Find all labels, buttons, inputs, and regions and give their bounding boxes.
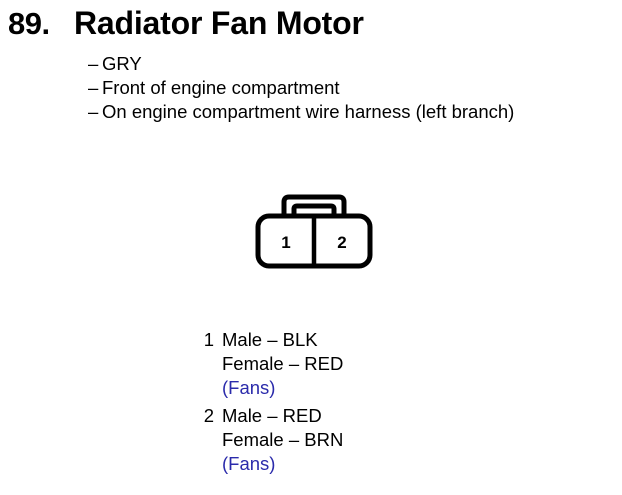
pin-number: 1 — [190, 328, 214, 352]
cavity-label-1: 1 — [281, 233, 290, 252]
description-line: – On engine compartment wire harness (le… — [88, 100, 618, 124]
pin-row: Female – RED — [190, 352, 490, 376]
pin-circuit-note: (Fans) — [222, 452, 275, 476]
connector-diagram: 1 2 — [248, 192, 380, 272]
pin-entry: 2 Male – RED Female – BRN (Fans) — [190, 404, 490, 476]
page-title: Radiator Fan Motor — [74, 4, 364, 42]
pin-row: (Fans) — [190, 376, 490, 400]
description-text: GRY — [102, 52, 142, 76]
pin-entry: 1 Male – BLK Female – RED (Fans) — [190, 328, 490, 400]
description-text: On engine compartment wire harness (left… — [102, 100, 514, 124]
entry-number: 89. — [8, 6, 50, 42]
pin-list: 1 Male – BLK Female – RED (Fans) 2 Male … — [190, 328, 490, 480]
description-list: – GRY – Front of engine compartment – On… — [88, 52, 618, 124]
dash-bullet-icon: – — [88, 76, 102, 100]
description-line: – GRY — [88, 52, 618, 76]
description-text: Front of engine compartment — [102, 76, 340, 100]
pin-number: 2 — [190, 404, 214, 428]
pin-row: (Fans) — [190, 452, 490, 476]
pin-female-wire: Female – BRN — [222, 428, 343, 452]
pin-circuit-note: (Fans) — [222, 376, 275, 400]
dash-bullet-icon: – — [88, 100, 102, 124]
pin-male-wire: Male – RED — [222, 404, 322, 428]
description-line: – Front of engine compartment — [88, 76, 618, 100]
pin-row: Female – BRN — [190, 428, 490, 452]
pin-male-wire: Male – BLK — [222, 328, 318, 352]
dash-bullet-icon: – — [88, 52, 102, 76]
pin-female-wire: Female – RED — [222, 352, 343, 376]
page-header: 89. Radiator Fan Motor — [0, 0, 622, 46]
pin-row: 2 Male – RED — [190, 404, 490, 428]
cavity-label-2: 2 — [337, 233, 346, 252]
pin-row: 1 Male – BLK — [190, 328, 490, 352]
